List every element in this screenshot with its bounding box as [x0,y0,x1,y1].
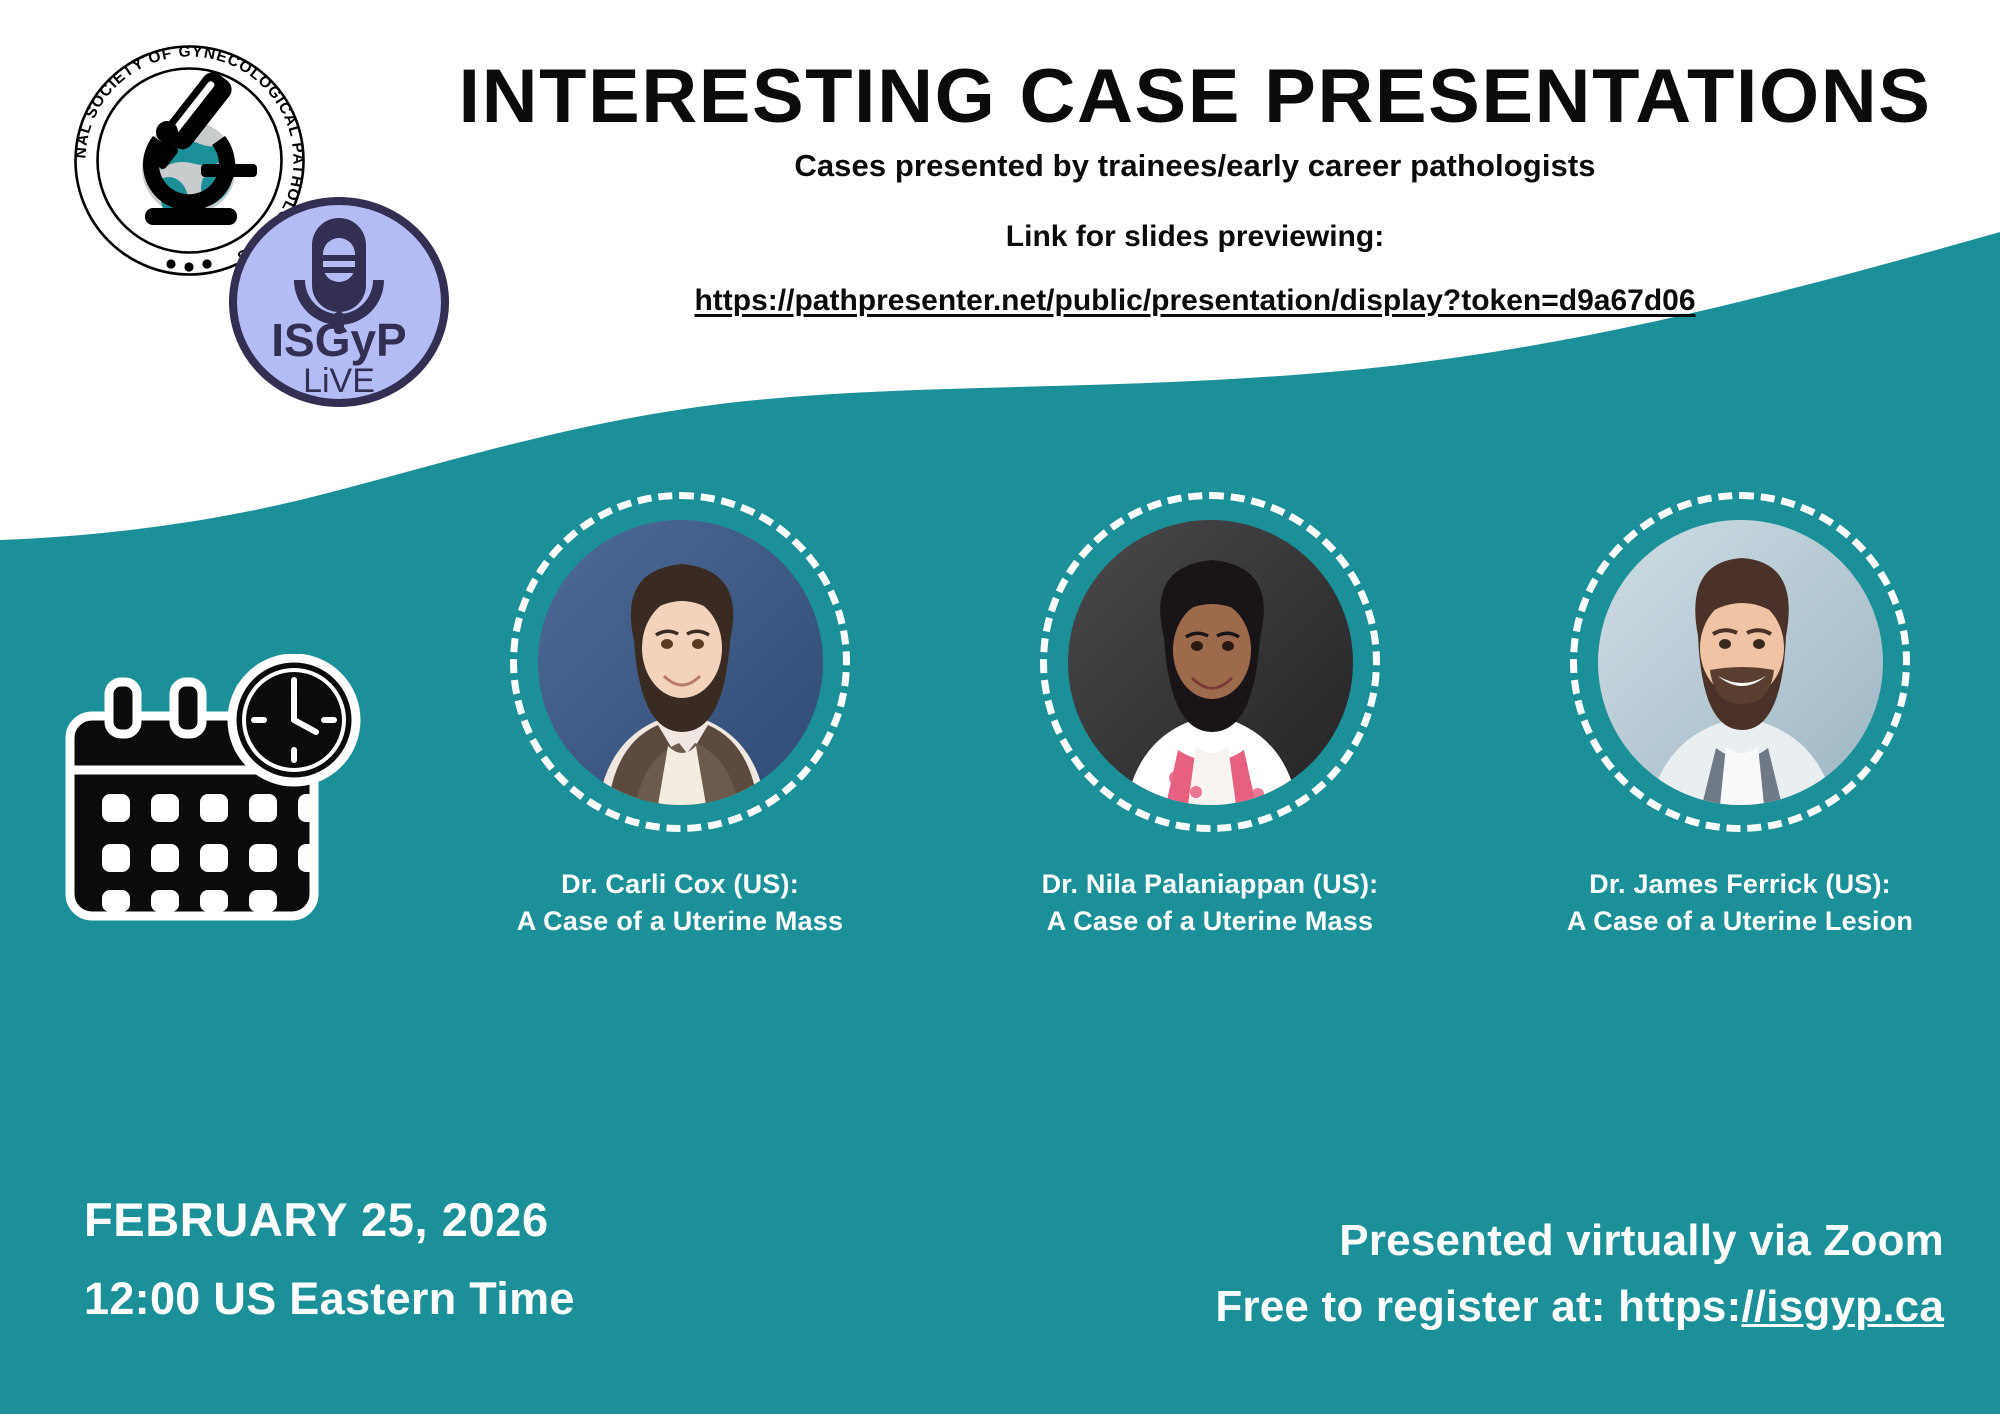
register-line: Free to register at: https://isgyp.ca [1215,1282,1944,1332]
page-title: INTERESTING CASE PRESENTATIONS [415,58,1976,136]
calendar-clock-icon [62,654,382,939]
speaker-case-title: A Case of a Uterine Mass [1042,903,1379,940]
event-time: 12:00 US Eastern Time [84,1273,575,1325]
registration-block: Presented virtually via Zoom Free to reg… [1215,1216,1944,1332]
event-datetime-block: FEBRUARY 25, 2026 12:00 US Eastern Time [84,1192,575,1325]
header-block: INTERESTING CASE PRESENTATIONS Cases pre… [430,58,1960,318]
avatar [538,520,823,805]
registration-url[interactable]: //isgyp.ca [1741,1282,1944,1331]
speaker-list: Dr. Carli Cox (US): A Case of a Uterine … [460,492,1960,941]
page-subtitle: Cases presented by trainees/early career… [430,148,1960,184]
isgyp-live-badge: ISGyP LiVE [228,196,450,408]
speaker-case-title: A Case of a Uterine Mass [517,903,843,940]
speaker-card: Dr. Nila Palaniappan (US): A Case of a U… [990,492,1430,941]
register-prefix: Free to register at: https: [1215,1282,1741,1331]
event-flyer: INTERNATIONAL SOCIETY OF GYNECOLOGICAL P… [0,0,2000,1414]
slides-link-label: Link for slides previewing: [430,220,1960,254]
speaker-case-title: A Case of a Uterine Lesion [1567,903,1913,940]
speaker-card: Dr. Carli Cox (US): A Case of a Uterine … [460,492,900,941]
speaker-card: Dr. James Ferrick (US): A Case of a Uter… [1520,492,1960,941]
photo-dashed-ring [1040,492,1380,832]
speaker-caption: Dr. Carli Cox (US): A Case of a Uterine … [517,866,843,941]
platform-line: Presented virtually via Zoom [1215,1216,1944,1266]
photo-dashed-ring [1570,492,1910,832]
slides-link-url[interactable]: https://pathpresenter.net/public/present… [430,284,1960,318]
event-date: FEBRUARY 25, 2026 [84,1192,575,1247]
speaker-name: Dr. Carli Cox (US): [517,866,843,903]
speaker-caption: Dr. Nila Palaniappan (US): A Case of a U… [1042,866,1379,941]
avatar [1598,520,1883,805]
live-badge-line2: LiVE [303,362,375,400]
avatar [1068,520,1353,805]
speaker-caption: Dr. James Ferrick (US): A Case of a Uter… [1567,866,1913,941]
speaker-name: Dr. James Ferrick (US): [1567,866,1913,903]
photo-dashed-ring [510,492,850,832]
speaker-name: Dr. Nila Palaniappan (US): [1042,866,1379,903]
live-badge-line1: ISGyP [271,314,407,366]
